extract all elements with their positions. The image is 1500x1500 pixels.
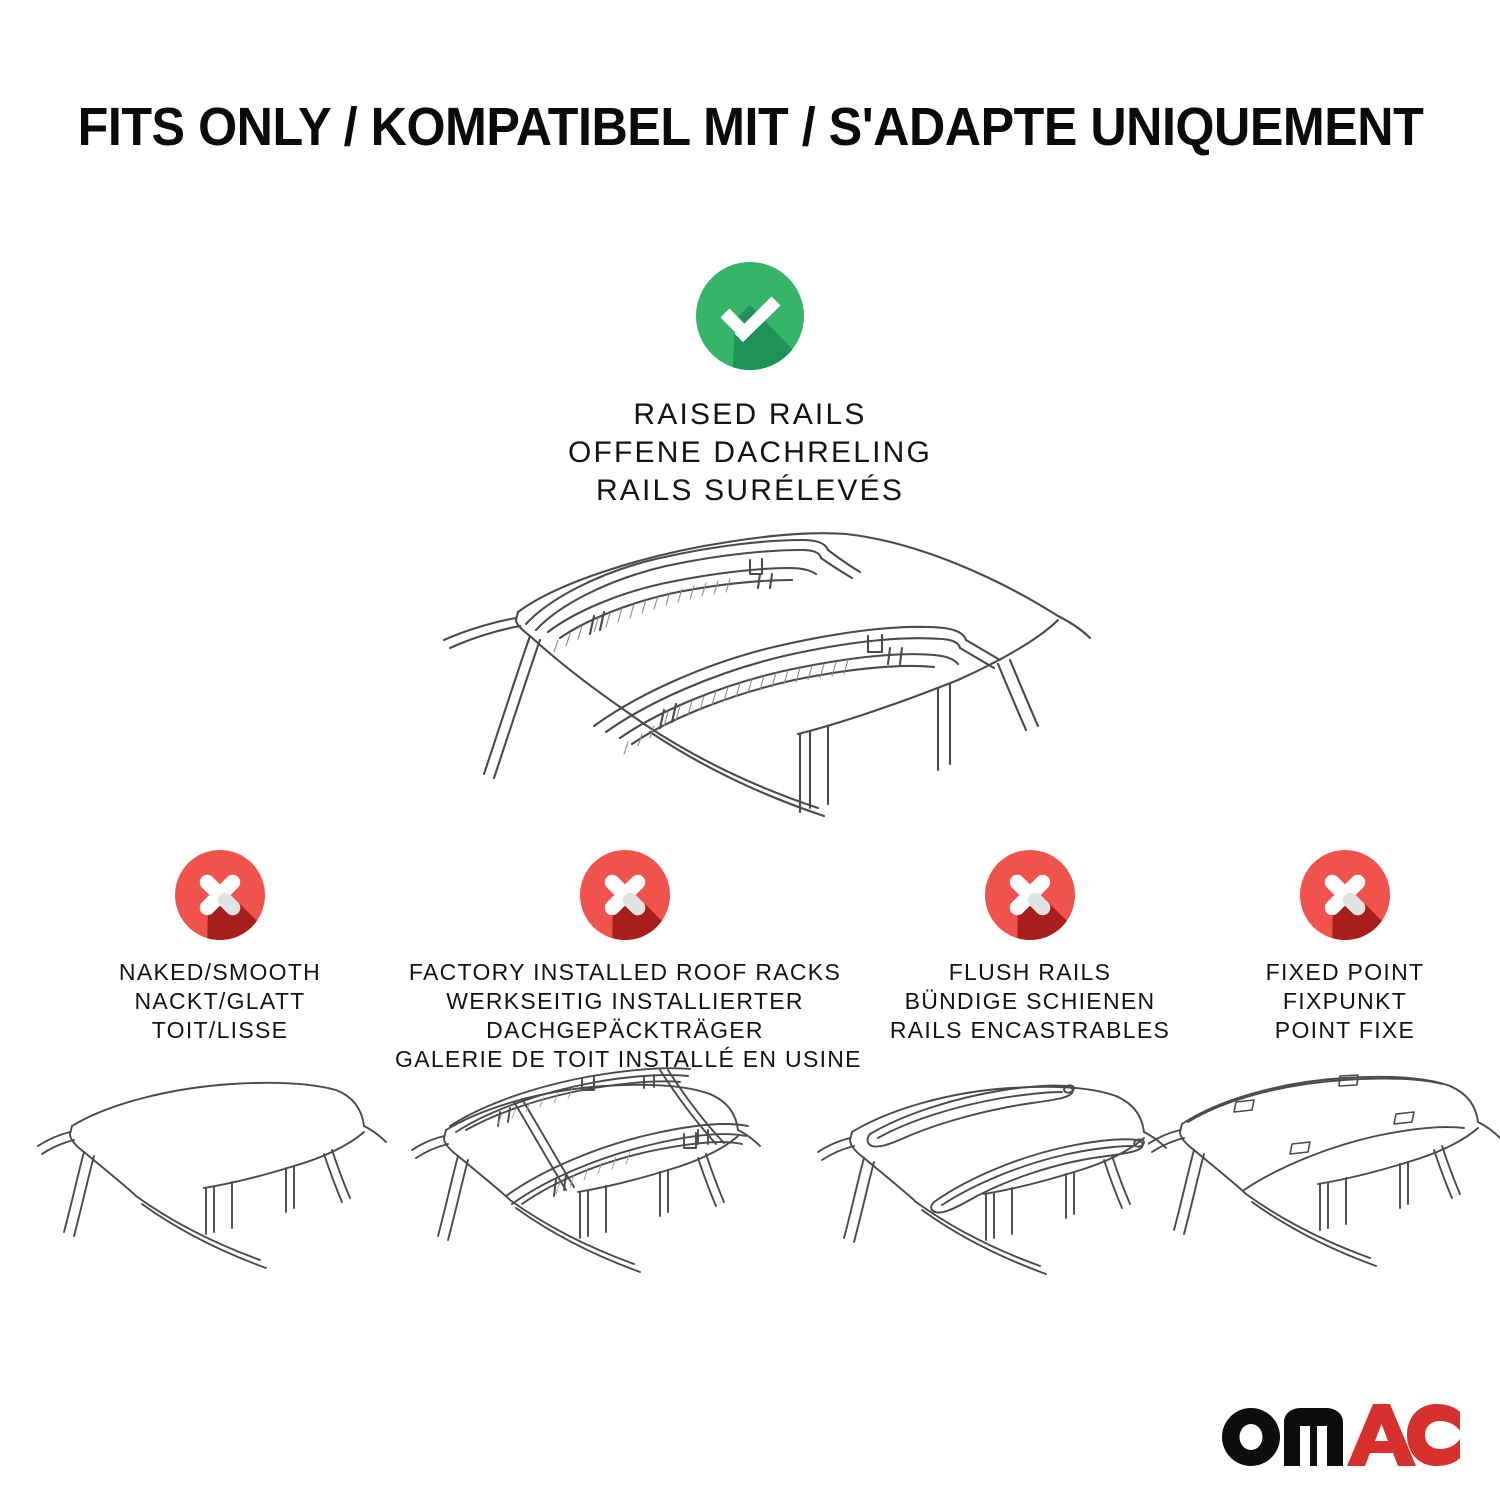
incompatible-illustrations bbox=[0, 1062, 1500, 1292]
incompatible-option-naked-smooth: NAKED/SMOOTH NACKT/GLATT TOIT/LISSE bbox=[30, 846, 410, 1045]
compatible-label-line-1: RAISED RAILS bbox=[0, 396, 1500, 434]
omac-logo bbox=[1222, 1404, 1460, 1466]
car-roof-fixed-point-illustration bbox=[1148, 1062, 1500, 1292]
car-roof-factory-racks-illustration bbox=[406, 1062, 788, 1292]
x-circle-icon bbox=[981, 846, 1079, 944]
label-line: DACHGEPÄCKTRÄGER bbox=[395, 1016, 855, 1045]
label-line: POINT FIXE bbox=[1200, 1016, 1490, 1045]
incompatible-labels-naked-smooth: NAKED/SMOOTH NACKT/GLATT TOIT/LISSE bbox=[30, 958, 410, 1045]
compatible-label-line-2: OFFENE DACHRELING bbox=[0, 434, 1500, 472]
label-line: FLUSH RAILS bbox=[855, 958, 1205, 987]
check-circle-icon bbox=[692, 258, 808, 374]
label-line: NACKT/GLATT bbox=[30, 987, 410, 1016]
x-circle-icon bbox=[171, 846, 269, 944]
logo-letter-m bbox=[1284, 1408, 1343, 1466]
incompatible-option-factory-roof-racks: FACTORY INSTALLED ROOF RACKS WERKSEITIG … bbox=[395, 846, 855, 1074]
label-line: WERKSEITIG INSTALLIERTER bbox=[395, 987, 855, 1016]
label-line: FIXED POINT bbox=[1200, 958, 1490, 987]
compatible-section: RAISED RAILS OFFENE DACHRELING RAILS SUR… bbox=[0, 258, 1500, 510]
label-line: TOIT/LISSE bbox=[30, 1016, 410, 1045]
logo-letter-o bbox=[1222, 1408, 1280, 1466]
incompatible-labels-fixed-point: FIXED POINT FIXPUNKT POINT FIXE bbox=[1200, 958, 1490, 1045]
compatible-labels: RAISED RAILS OFFENE DACHRELING RAILS SUR… bbox=[0, 396, 1500, 510]
label-line: FIXPUNKT bbox=[1200, 987, 1490, 1016]
label-line: NAKED/SMOOTH bbox=[30, 958, 410, 987]
logo-letter-C bbox=[1407, 1404, 1460, 1466]
x-circle-icon bbox=[576, 846, 674, 944]
label-line: FACTORY INSTALLED ROOF RACKS bbox=[395, 958, 855, 987]
x-circle-icon bbox=[1296, 846, 1394, 944]
page-title-text: FITS ONLY / KOMPATIBEL MIT / S'ADAPTE UN… bbox=[77, 96, 1423, 158]
car-roof-naked-illustration bbox=[36, 1062, 418, 1292]
label-line: RAILS ENCASTRABLES bbox=[855, 1016, 1205, 1045]
logo-letter-A bbox=[1347, 1404, 1416, 1466]
compatible-label-line-3: RAILS SURÉLEVÉS bbox=[0, 472, 1500, 510]
incompatible-option-flush-rails: FLUSH RAILS BÜNDIGE SCHIENEN RAILS ENCAS… bbox=[855, 846, 1205, 1045]
incompatible-labels-flush-rails: FLUSH RAILS BÜNDIGE SCHIENEN RAILS ENCAS… bbox=[855, 958, 1205, 1045]
page-title: FITS ONLY / KOMPATIBEL MIT / S'ADAPTE UN… bbox=[0, 96, 1500, 158]
car-roof-flush-rails-illustration bbox=[808, 1062, 1190, 1292]
label-line: BÜNDIGE SCHIENEN bbox=[855, 987, 1205, 1016]
incompatible-labels-factory-roof-racks: FACTORY INSTALLED ROOF RACKS WERKSEITIG … bbox=[395, 958, 855, 1074]
car-roof-raised-rails-illustration bbox=[398, 512, 1102, 842]
incompatible-option-fixed-point: FIXED POINT FIXPUNKT POINT FIXE bbox=[1200, 846, 1490, 1045]
